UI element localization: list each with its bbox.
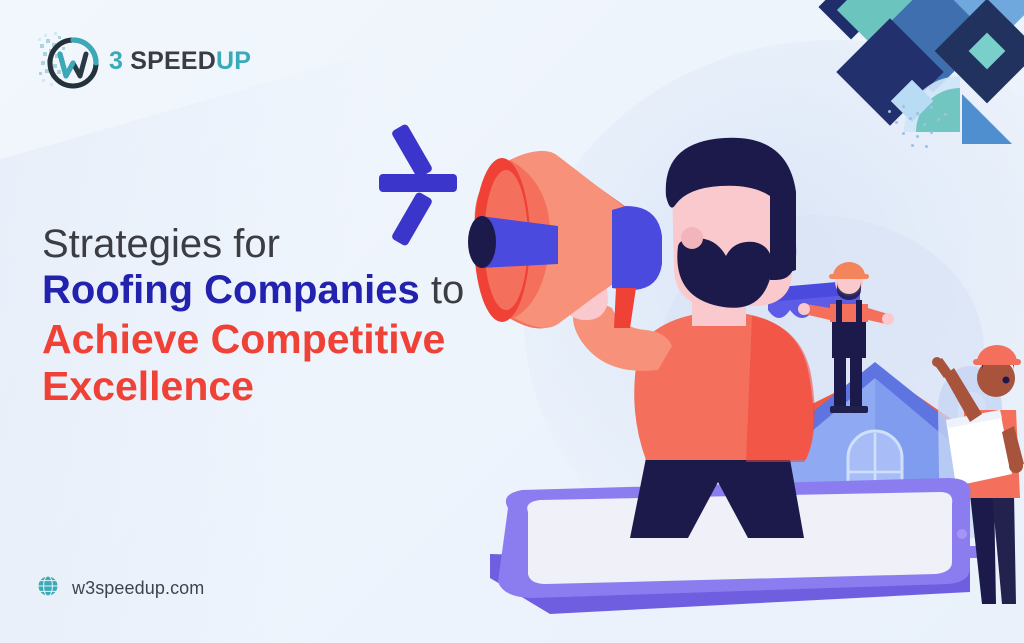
sound-wave-bars bbox=[375, 120, 485, 250]
roofing-marketing-illustration bbox=[0, 0, 1024, 643]
marketing-banner: 3 SPEEDUP Strategies for Roofing Compani… bbox=[0, 0, 1024, 643]
